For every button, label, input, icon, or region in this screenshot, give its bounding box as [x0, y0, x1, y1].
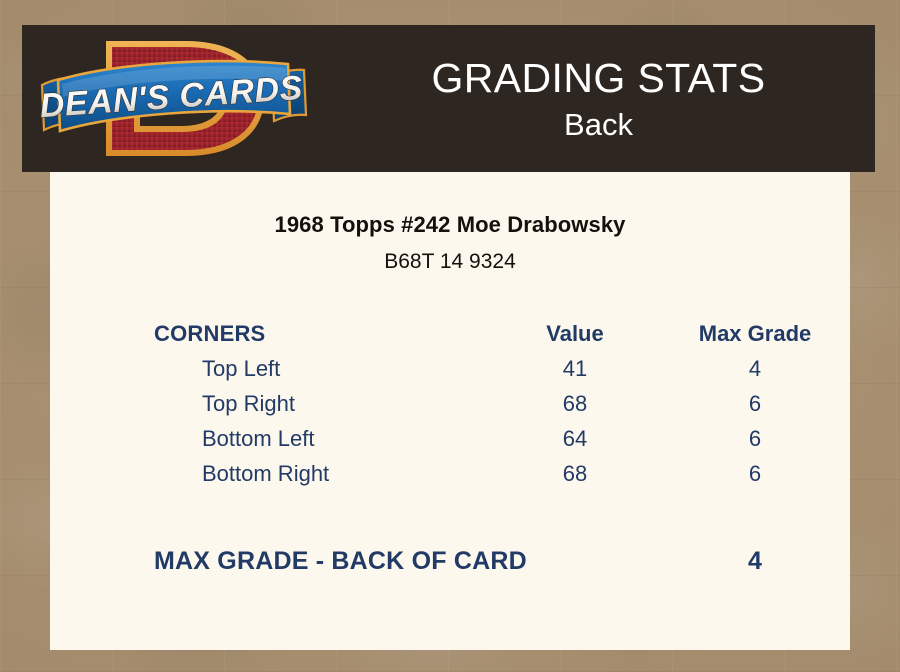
corner-value: 68: [490, 386, 660, 421]
corner-max-grade: 4: [660, 351, 850, 386]
page-subtitle: Back: [564, 105, 633, 145]
header-title-block: GRADING STATS Back: [322, 25, 875, 172]
table-row: Bottom Left 64 6: [50, 421, 850, 456]
column-header-max-grade: Max Grade: [660, 316, 850, 351]
max-grade-summary-label: MAX GRADE - BACK OF CARD: [50, 547, 527, 576]
max-grade-summary: MAX GRADE - BACK OF CARD 4: [50, 547, 850, 576]
table-row: Top Right 68 6: [50, 386, 850, 421]
table-row: Bottom Right 68 6: [50, 456, 850, 491]
header-bar: DEAN'S CARDS GRADING STATS Back: [22, 25, 875, 172]
table-row: Top Left 41 4: [50, 351, 850, 386]
corner-value: 68: [490, 456, 660, 491]
deans-cards-logo[interactable]: DEAN'S CARDS: [36, 27, 312, 170]
corner-max-grade: 6: [660, 386, 850, 421]
corner-label: Top Left: [50, 351, 490, 386]
content-panel: 1968 Topps #242 Moe Drabowsky B68T 14 93…: [50, 172, 850, 650]
corner-label: Bottom Left: [50, 421, 490, 456]
corner-label: Top Right: [50, 386, 490, 421]
corner-max-grade: 6: [660, 421, 850, 456]
page-title: GRADING STATS: [432, 53, 766, 103]
grading-stats-page: DEAN'S CARDS GRADING STATS Back 1968 Top…: [0, 0, 900, 672]
corner-value: 41: [490, 351, 660, 386]
column-header-corners: CORNERS: [50, 316, 490, 351]
table-header-row: CORNERS Value Max Grade: [50, 316, 850, 351]
corner-value: 64: [490, 421, 660, 456]
card-serial-number: B68T 14 9324: [50, 250, 850, 274]
max-grade-summary-value: 4: [660, 547, 850, 576]
corner-label: Bottom Right: [50, 456, 490, 491]
grading-stats-table: CORNERS Value Max Grade Top Left 41 4 To…: [50, 316, 850, 491]
corner-max-grade: 6: [660, 456, 850, 491]
column-header-value: Value: [490, 316, 660, 351]
card-title: 1968 Topps #242 Moe Drabowsky: [50, 212, 850, 238]
